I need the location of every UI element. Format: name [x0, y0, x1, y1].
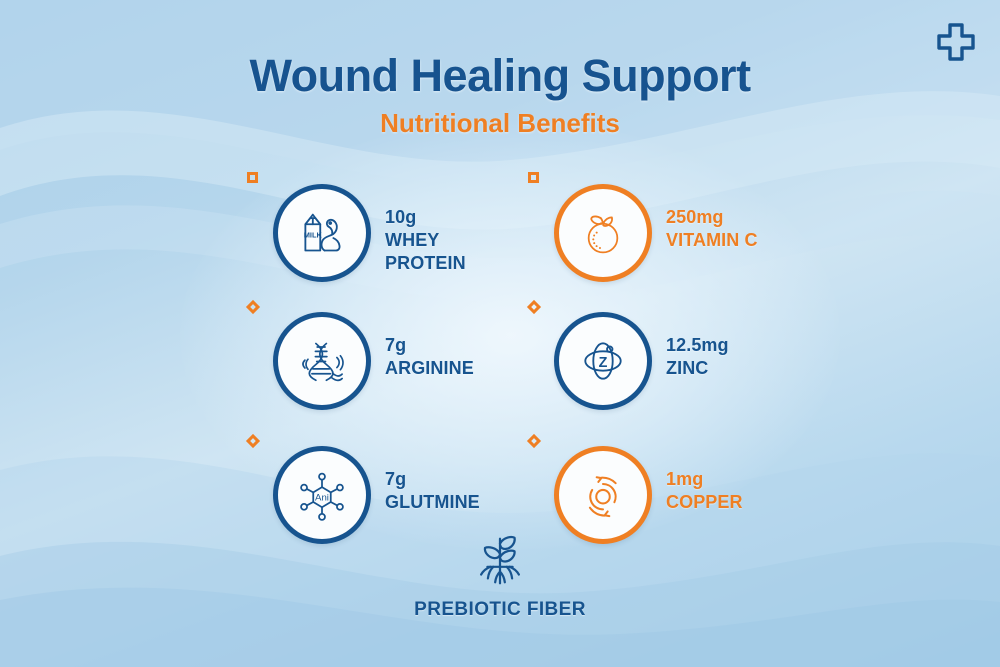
benefit-badge: MILK: [273, 184, 371, 282]
benefit-nutrient: PREBIOTIC FIBER: [0, 598, 1000, 622]
infographic-poster: Wound Healing Support Nutritional Benefi…: [0, 0, 1000, 667]
benefit-amount: 12.5mg: [666, 334, 816, 357]
benefit-nutrient: WHEY: [385, 229, 535, 252]
zinc-symbol-label: Z: [599, 355, 608, 371]
amino-label: Ani: [315, 492, 329, 503]
orange-fruit-icon: [576, 206, 630, 260]
benefit-nutrient: ARGININE: [385, 357, 535, 380]
benefit-labels: 12.5mg ZINC: [666, 334, 816, 380]
benefit-nutrient-line2: PROTEIN: [385, 252, 535, 275]
benefit-nutrient: GLUTMINE: [385, 491, 535, 514]
benefit-badge: Z: [554, 312, 652, 410]
benefit-labels: 7g GLUTMINE: [385, 468, 535, 514]
diamond-marker-icon: [246, 434, 260, 448]
dna-helix-icon: [294, 333, 350, 389]
benefit-item-prebiotic-fiber[interactable]: PREBIOTIC FIBER: [0, 530, 1000, 622]
benefit-amount: 7g: [385, 334, 535, 357]
benefit-amount: 1mg: [666, 468, 816, 491]
page-title: Wound Healing Support: [0, 50, 1000, 102]
sprout-roots-icon: [469, 530, 531, 592]
benefit-item-vitamin-c[interactable]: 250mg VITAMIN C: [526, 168, 811, 294]
diamond-marker-icon: [246, 300, 260, 314]
copper-spiral-icon: [576, 468, 630, 522]
poster-headings: Wound Healing Support Nutritional Benefi…: [0, 50, 1000, 138]
diamond-marker-icon: [527, 434, 541, 448]
benefits-grid: MILK 10g WHEY PROTEIN: [245, 168, 805, 528]
benefit-item-zinc[interactable]: Z 12.5mg ZINC: [526, 296, 811, 422]
diamond-marker-icon: [527, 300, 541, 314]
square-marker-icon: [247, 172, 258, 183]
benefit-badge: [273, 312, 371, 410]
benefit-item-arginine[interactable]: 7g ARGININE: [245, 296, 530, 422]
benefit-labels: 250mg VITAMIN C: [666, 206, 816, 252]
benefit-amount: 250mg: [666, 206, 816, 229]
benefit-item-whey-protein[interactable]: MILK 10g WHEY PROTEIN: [245, 168, 530, 294]
zinc-atom-icon: Z: [576, 334, 630, 388]
benefit-labels: 1mg COPPER: [666, 468, 816, 514]
benefit-labels: 7g ARGININE: [385, 334, 535, 380]
milk-carton-label: MILK: [304, 230, 323, 239]
benefit-amount: 10g: [385, 206, 535, 229]
benefit-badge: [554, 184, 652, 282]
benefit-nutrient: ZINC: [666, 357, 816, 380]
benefit-labels: 10g WHEY PROTEIN: [385, 206, 535, 275]
page-subtitle: Nutritional Benefits: [0, 108, 1000, 138]
benefit-nutrient: VITAMIN C: [666, 229, 816, 252]
square-marker-icon: [528, 172, 539, 183]
milk-carton-bicep-icon: MILK: [294, 205, 350, 261]
amino-molecule-icon: Ani: [294, 467, 350, 523]
benefit-amount: 7g: [385, 468, 535, 491]
benefit-nutrient: COPPER: [666, 491, 816, 514]
